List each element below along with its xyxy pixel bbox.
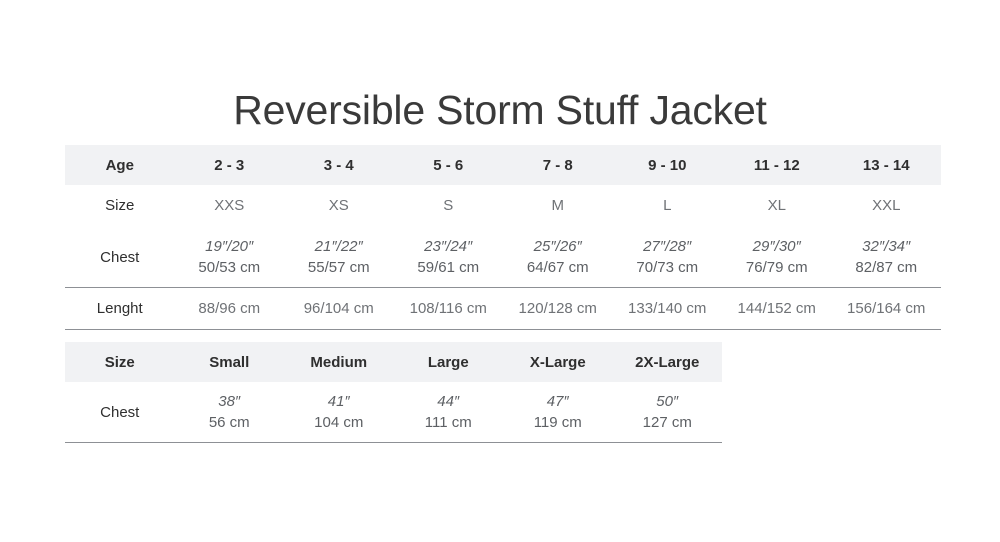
adult-size-chart: Size Small Medium Large X-Large 2X-Large… <box>65 342 722 443</box>
adult-chest-value-1: 41″ 104 cm <box>284 382 394 443</box>
adult-header-label: Size <box>65 342 175 382</box>
kids-chest-metric-1: 55/57 cm <box>286 257 392 278</box>
kids-row-label-chest: Chest <box>65 227 175 288</box>
size-chart-page: Reversible Storm Stuff Jacket Age 2 - 3 … <box>0 0 1000 542</box>
adult-table-body: Chest 38″ 56 cm 41″ 104 cm 44″ 111 cm 47… <box>65 382 722 443</box>
kids-header-age-2-3: 2 - 3 <box>175 145 285 185</box>
kids-size-value-0: XXS <box>175 185 285 227</box>
kids-header-age-3-4: 3 - 4 <box>284 145 394 185</box>
table-row: Lenght 88/96 cm 96/104 cm 108/116 cm 120… <box>65 288 941 330</box>
kids-chest-imperial-5: 29″/30″ <box>724 236 830 257</box>
kids-chest-value-1: 21″/22″ 55/57 cm <box>284 227 394 288</box>
kids-header-row: Age 2 - 3 3 - 4 5 - 6 7 - 8 9 - 10 11 - … <box>65 145 941 185</box>
adult-row-label-chest: Chest <box>65 382 175 443</box>
adult-header-large: Large <box>394 342 504 382</box>
adult-chest-metric-1: 104 cm <box>286 412 392 433</box>
kids-size-value-5: XL <box>722 185 832 227</box>
kids-chest-metric-4: 70/73 cm <box>615 257 721 278</box>
kids-lenght-value-6: 156/164 cm <box>832 288 942 330</box>
adult-chest-value-0: 38″ 56 cm <box>175 382 285 443</box>
kids-chest-imperial-6: 32″/34″ <box>834 236 940 257</box>
table-row: Chest 38″ 56 cm 41″ 104 cm 44″ 111 cm 47… <box>65 382 722 443</box>
table-row: Chest 19″/20″ 50/53 cm 21″/22″ 55/57 cm … <box>65 227 941 288</box>
kids-chest-imperial-0: 19″/20″ <box>177 236 283 257</box>
kids-chest-imperial-3: 25″/26″ <box>505 236 611 257</box>
kids-chest-value-2: 23″/24″ 59/61 cm <box>394 227 504 288</box>
table-row: Size XXS XS S M L XL XXL <box>65 185 941 227</box>
kids-table-head: Age 2 - 3 3 - 4 5 - 6 7 - 8 9 - 10 11 - … <box>65 145 941 185</box>
kids-size-value-3: M <box>503 185 613 227</box>
kids-table-body: Size XXS XS S M L XL XXL Chest 19″/20″ 5… <box>65 185 941 330</box>
kids-lenght-value-2: 108/116 cm <box>394 288 504 330</box>
kids-lenght-value-3: 120/128 cm <box>503 288 613 330</box>
adult-chest-imperial-4: 50″ <box>615 391 721 412</box>
kids-size-value-6: XXL <box>832 185 942 227</box>
kids-row-label-size: Size <box>65 185 175 227</box>
adult-chest-imperial-0: 38″ <box>177 391 283 412</box>
kids-chest-value-4: 27″/28″ 70/73 cm <box>613 227 723 288</box>
kids-chest-imperial-4: 27″/28″ <box>615 236 721 257</box>
kids-chest-metric-2: 59/61 cm <box>396 257 502 278</box>
kids-header-label: Age <box>65 145 175 185</box>
adult-chest-imperial-2: 44″ <box>396 391 502 412</box>
kids-lenght-value-1: 96/104 cm <box>284 288 394 330</box>
kids-chest-value-3: 25″/26″ 64/67 cm <box>503 227 613 288</box>
adult-chest-metric-2: 111 cm <box>396 412 502 433</box>
adult-chest-value-2: 44″ 111 cm <box>394 382 504 443</box>
kids-chest-metric-3: 64/67 cm <box>505 257 611 278</box>
kids-chest-imperial-2: 23″/24″ <box>396 236 502 257</box>
adult-header-row: Size Small Medium Large X-Large 2X-Large <box>65 342 722 382</box>
adult-chest-imperial-1: 41″ <box>286 391 392 412</box>
kids-header-age-7-8: 7 - 8 <box>503 145 613 185</box>
adult-chest-value-3: 47″ 119 cm <box>503 382 613 443</box>
adult-header-x-large: X-Large <box>503 342 613 382</box>
kids-size-value-2: S <box>394 185 504 227</box>
adult-chest-value-4: 50″ 127 cm <box>613 382 723 443</box>
adult-chest-imperial-3: 47″ <box>505 391 611 412</box>
kids-header-age-5-6: 5 - 6 <box>394 145 504 185</box>
kids-header-age-13-14: 13 - 14 <box>832 145 942 185</box>
kids-header-age-11-12: 11 - 12 <box>722 145 832 185</box>
kids-chest-value-0: 19″/20″ 50/53 cm <box>175 227 285 288</box>
adult-header-small: Small <box>175 342 285 382</box>
kids-size-value-4: L <box>613 185 723 227</box>
kids-lenght-value-4: 133/140 cm <box>613 288 723 330</box>
kids-size-value-1: XS <box>284 185 394 227</box>
adult-header-2x-large: 2X-Large <box>613 342 723 382</box>
kids-lenght-value-0: 88/96 cm <box>175 288 285 330</box>
kids-header-age-9-10: 9 - 10 <box>613 145 723 185</box>
kids-row-label-lenght: Lenght <box>65 288 175 330</box>
kids-chest-metric-6: 82/87 cm <box>834 257 940 278</box>
kids-chest-metric-0: 50/53 cm <box>177 257 283 278</box>
page-title: Reversible Storm Stuff Jacket <box>0 84 1000 136</box>
kids-chest-imperial-1: 21″/22″ <box>286 236 392 257</box>
adult-chest-metric-4: 127 cm <box>615 412 721 433</box>
kids-chest-value-5: 29″/30″ 76/79 cm <box>722 227 832 288</box>
kids-chest-value-6: 32″/34″ 82/87 cm <box>832 227 942 288</box>
kids-lenght-value-5: 144/152 cm <box>722 288 832 330</box>
adult-header-medium: Medium <box>284 342 394 382</box>
adult-chest-metric-0: 56 cm <box>177 412 283 433</box>
kids-size-chart: Age 2 - 3 3 - 4 5 - 6 7 - 8 9 - 10 11 - … <box>65 145 941 330</box>
kids-chest-metric-5: 76/79 cm <box>724 257 830 278</box>
adult-table-head: Size Small Medium Large X-Large 2X-Large <box>65 342 722 382</box>
adult-chest-metric-3: 119 cm <box>505 412 611 433</box>
